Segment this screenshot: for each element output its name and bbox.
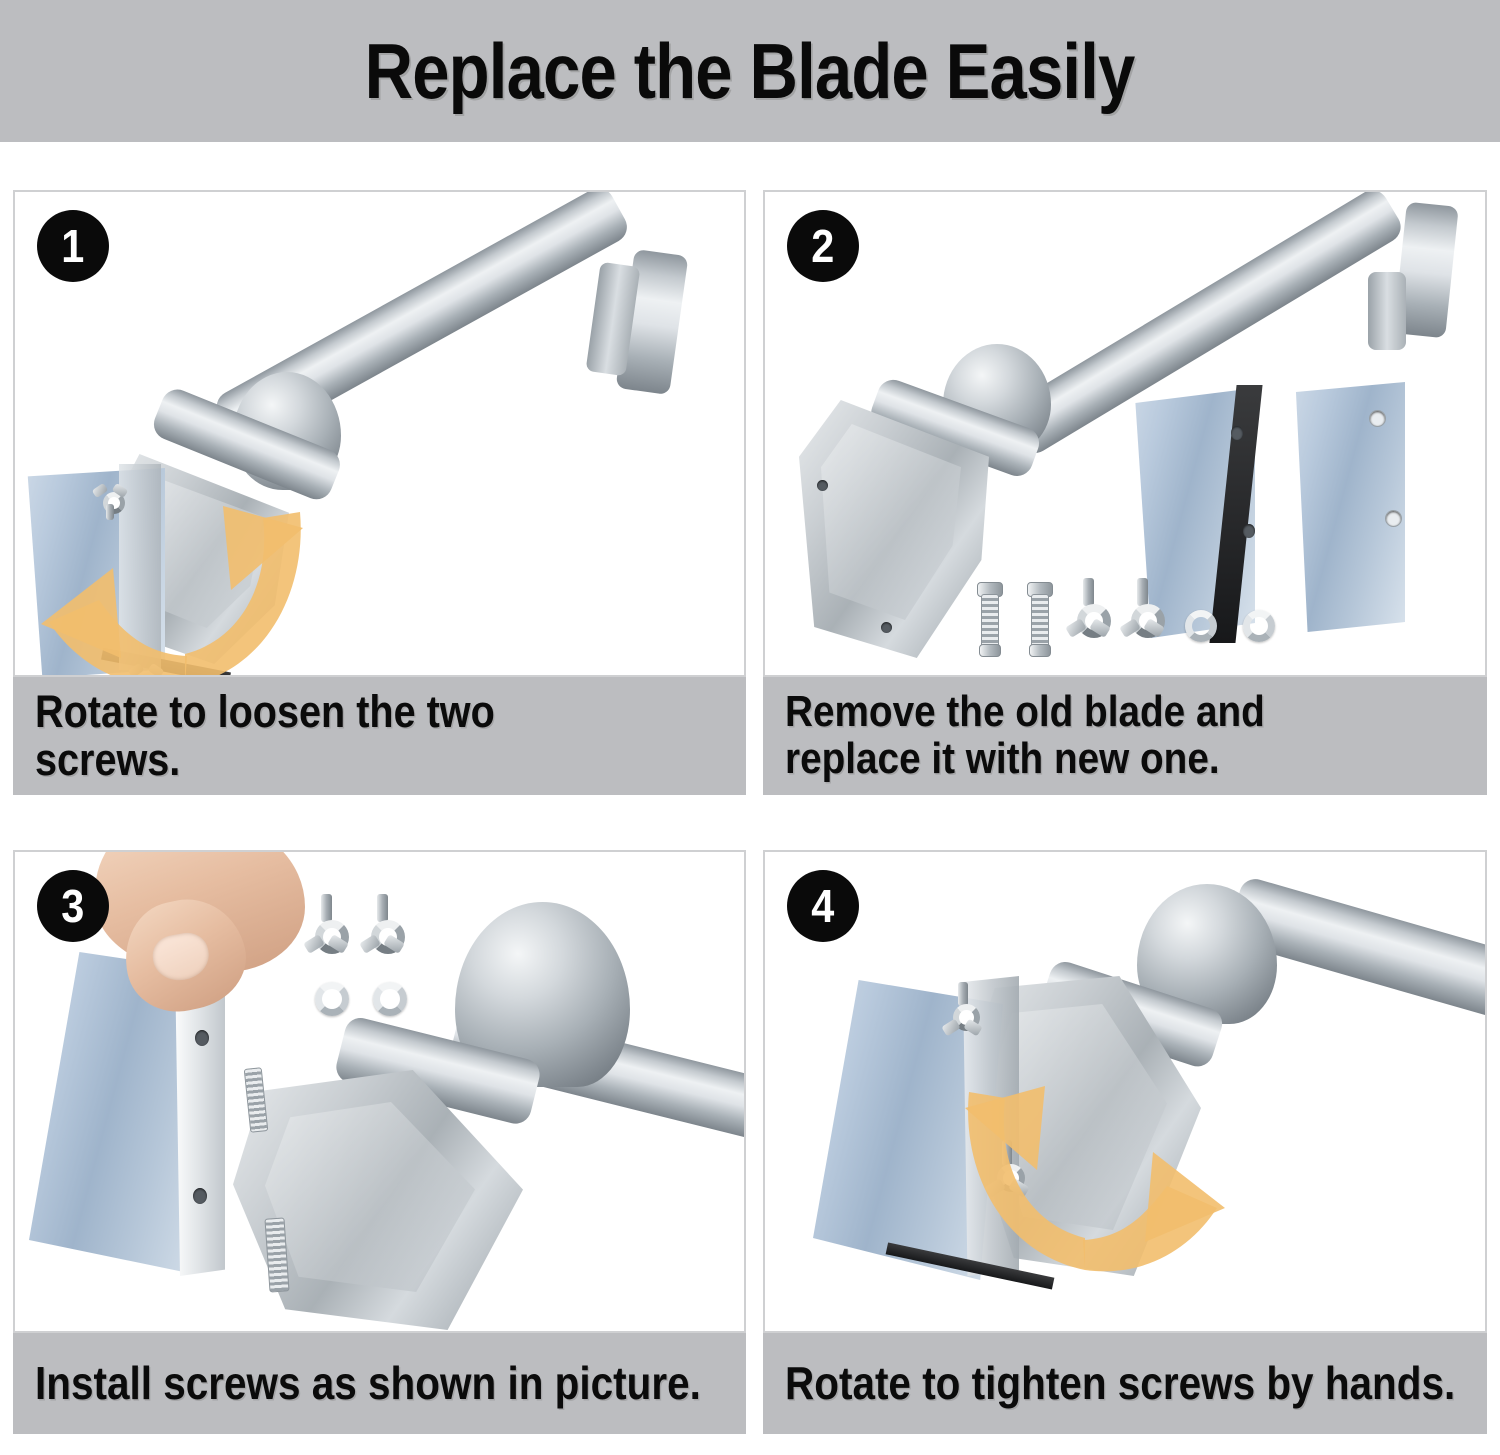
step-card-2: 2 [763, 190, 1487, 795]
caption-text: Remove the old blade and replace it with… [785, 689, 1389, 782]
step-number-label: 1 [61, 223, 84, 269]
step-4-photo: 4 [763, 850, 1487, 1333]
blade-hole-upper [195, 1030, 209, 1046]
handle-hook-lip-icon [1368, 272, 1406, 350]
install-screws-illustration [15, 852, 744, 1331]
step-number-badge-3: 3 [37, 870, 109, 942]
page-title: Replace the Blade Easily [365, 26, 1135, 117]
instruction-graphic: Replace the Blade Easily 1 [0, 0, 1500, 1455]
step-card-4: 4 [763, 850, 1487, 1434]
steps-grid: 1 [0, 142, 1500, 1455]
step-number-label: 2 [811, 223, 834, 269]
step-card-1: 1 [13, 190, 746, 795]
header-banner: Replace the Blade Easily [0, 0, 1500, 142]
hand-icon [75, 850, 315, 1022]
step-number-badge-2: 2 [787, 210, 859, 282]
inserted-screw-upper [244, 1067, 269, 1133]
caption-text: Install screws as shown in picture. [35, 1359, 701, 1408]
step-2-photo: 2 [763, 190, 1487, 677]
step-card-3: 3 [13, 850, 746, 1434]
step-2-caption: Remove the old blade and replace it with… [763, 677, 1487, 795]
head-screw-hole-upper [817, 480, 828, 491]
caption-text: Rotate to loosen the two screws. [35, 688, 647, 783]
new-blade-hole-upper [1369, 410, 1386, 427]
step-4-caption: Rotate to tighten screws by hands. [763, 1333, 1487, 1434]
step-3-caption: Install screws as shown in picture. [13, 1333, 746, 1434]
exploded-parts-illustration [765, 192, 1485, 675]
washer-1 [1185, 610, 1217, 642]
step-3-photo: 3 [13, 850, 746, 1333]
step-number-label: 4 [811, 883, 834, 929]
blade-hole-lower [193, 1188, 207, 1204]
caption-text: Rotate to tighten screws by hands. [785, 1359, 1455, 1408]
washer-2 [1243, 610, 1275, 642]
tighten-screws-illustration [765, 852, 1485, 1331]
head-screw-hole-lower [881, 622, 892, 633]
old-blade-hole-upper [1231, 426, 1243, 440]
rotation-arrow-clockwise-icon [933, 1058, 1233, 1288]
washer-1 [315, 982, 349, 1016]
washer-2 [373, 982, 407, 1016]
scraper-tool-illustration-1 [15, 192, 744, 675]
old-blade-hole-lower [1243, 524, 1255, 538]
step-1-caption: Rotate to loosen the two screws. [13, 677, 746, 795]
step-number-badge-4: 4 [787, 870, 859, 942]
step-number-label: 3 [61, 883, 84, 929]
rotation-arrow-counter-clockwise-icon [35, 472, 335, 677]
step-1-photo: 1 [13, 190, 746, 677]
new-blade-hole-lower [1385, 510, 1402, 527]
new-blade-icon [1289, 382, 1405, 632]
step-number-badge-1: 1 [37, 210, 109, 282]
